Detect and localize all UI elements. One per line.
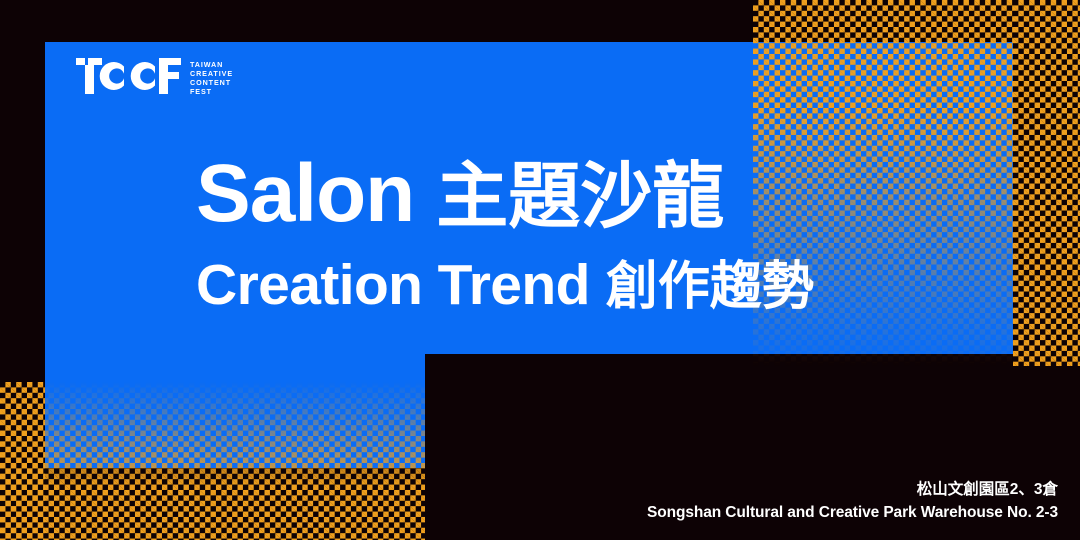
checkerboard-bottom-left	[0, 382, 425, 540]
tagline-line-2: CREATIVE	[190, 70, 233, 77]
poster-canvas: TAIWAN CREATIVE CONTENT FEST Salon主題沙龍 C…	[0, 0, 1080, 540]
headline-line-2: Creation Trend創作趨勢	[196, 256, 814, 314]
headline-line-2-en: Creation Trend	[196, 253, 590, 317]
tagline-line-3: CONTENT	[190, 79, 233, 86]
tccf-tagline: TAIWAN CREATIVE CONTENT FEST	[190, 58, 233, 95]
headline-block: Salon主題沙龍 Creation Trend創作趨勢	[196, 152, 814, 314]
tccf-logo: TAIWAN CREATIVE CONTENT FEST	[76, 58, 233, 95]
headline-line-1-zh: 主題沙龍	[414, 157, 724, 237]
tagline-line-4: FEST	[190, 88, 233, 95]
venue-name-zh: 松山文創園區2、3倉	[647, 478, 1058, 501]
headline-line-1-en: Salon	[196, 148, 414, 239]
venue-name-en: Songshan Cultural and Creative Park Ware…	[647, 501, 1058, 524]
headline-line-2-zh: 創作趨勢	[590, 258, 814, 316]
venue-block: 松山文創園區2、3倉 Songshan Cultural and Creativ…	[647, 478, 1058, 525]
checkerboard-bottom-left-edge	[0, 382, 45, 540]
tagline-line-1: TAIWAN	[190, 61, 233, 68]
headline-line-1: Salon主題沙龍	[196, 152, 814, 236]
tccf-wordmark-icon	[76, 58, 181, 94]
checkerboard-top-right-edge	[1013, 0, 1080, 366]
